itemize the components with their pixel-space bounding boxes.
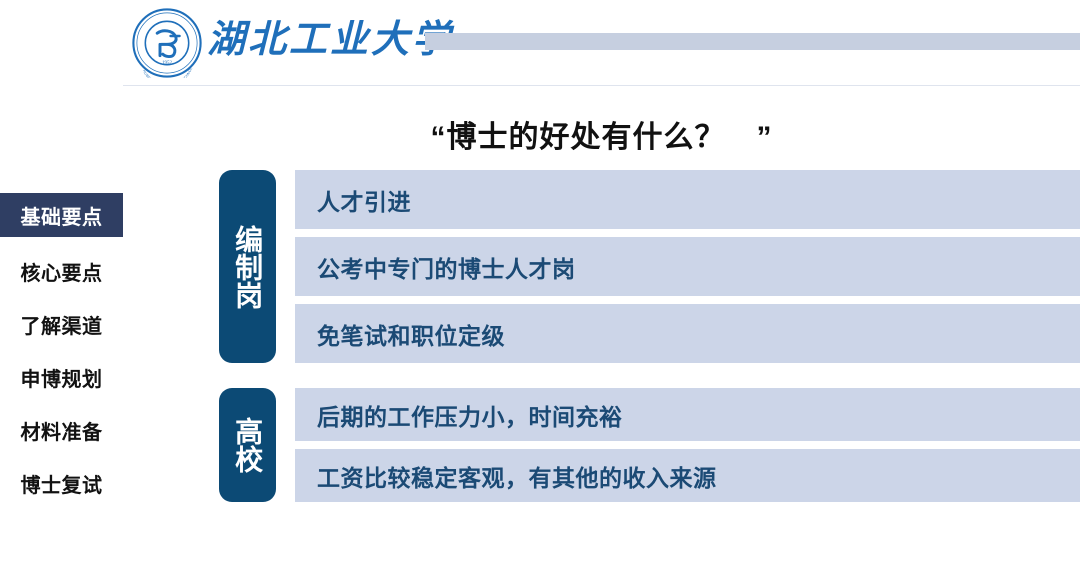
- sidebar-item-liaojiequdao[interactable]: 了解渠道: [0, 302, 123, 346]
- list-item-label: 人才引进: [317, 183, 411, 217]
- list-item-label: 公考中专门的博士人才岗: [317, 250, 576, 284]
- list-item[interactable]: 工资比较稳定客观，有其他的收入来源: [295, 449, 1080, 502]
- university-seal-icon: 1952 湖北工业大学 HUBEI UNIVERSITY OF TECHNOLO…: [132, 8, 202, 78]
- list-item[interactable]: 公考中专门的博士人才岗: [295, 237, 1080, 296]
- sidebar-item-label: 了解渠道: [21, 310, 103, 339]
- group-label-badge: 高校: [219, 388, 276, 502]
- group-label-text: 高校: [232, 417, 263, 473]
- slide-canvas: 基础要点 核心要点 了解渠道 申博规划 材料准备 博士复试 1952: [0, 0, 1080, 574]
- sidebar-item-shenboguihua[interactable]: 申博规划: [0, 355, 123, 399]
- list-item-label: 后期的工作压力小，时间充裕: [317, 398, 623, 432]
- group-rows: 后期的工作压力小，时间充裕 工资比较稳定客观，有其他的收入来源: [295, 388, 1080, 502]
- page-title: “博士的好处有什么？ ”: [123, 112, 1080, 156]
- header-divider: [123, 85, 1080, 86]
- list-item[interactable]: 免笔试和职位定级: [295, 304, 1080, 363]
- sidebar-item-hexinyaodian[interactable]: 核心要点: [0, 249, 123, 293]
- list-item[interactable]: 后期的工作压力小，时间充裕: [295, 388, 1080, 441]
- list-item-label: 工资比较稳定客观，有其他的收入来源: [317, 459, 717, 493]
- sidebar-item-boshifushi[interactable]: 博士复试: [0, 461, 123, 505]
- sidebar-item-label: 博士复试: [21, 469, 103, 498]
- sidebar-nav: 基础要点 核心要点 了解渠道 申博规划 材料准备 博士复试: [0, 0, 123, 574]
- school-name-wordmark: 湖北工业大学: [207, 14, 453, 66]
- sidebar-item-jichuyaodian[interactable]: 基础要点: [0, 193, 123, 237]
- group-label-badge: 编制岗: [219, 170, 276, 363]
- sidebar-item-label: 申博规划: [21, 363, 103, 392]
- list-item[interactable]: 人才引进: [295, 170, 1080, 229]
- svg-text:1952: 1952: [162, 61, 172, 66]
- sidebar-item-label: 材料准备: [21, 416, 103, 445]
- list-item-label: 免笔试和职位定级: [317, 317, 505, 351]
- header-decor-bar: [425, 33, 1080, 50]
- sidebar-item-label: 核心要点: [21, 257, 103, 286]
- group-label-text: 编制岗: [232, 225, 263, 309]
- sidebar-item-label: 基础要点: [21, 201, 103, 230]
- sidebar-item-cailiaozhunbei[interactable]: 材料准备: [0, 408, 123, 452]
- group-rows: 人才引进 公考中专门的博士人才岗 免笔试和职位定级: [295, 170, 1080, 363]
- slide-header: 1952 湖北工业大学 HUBEI UNIVERSITY OF TECHNOLO…: [123, 0, 1080, 86]
